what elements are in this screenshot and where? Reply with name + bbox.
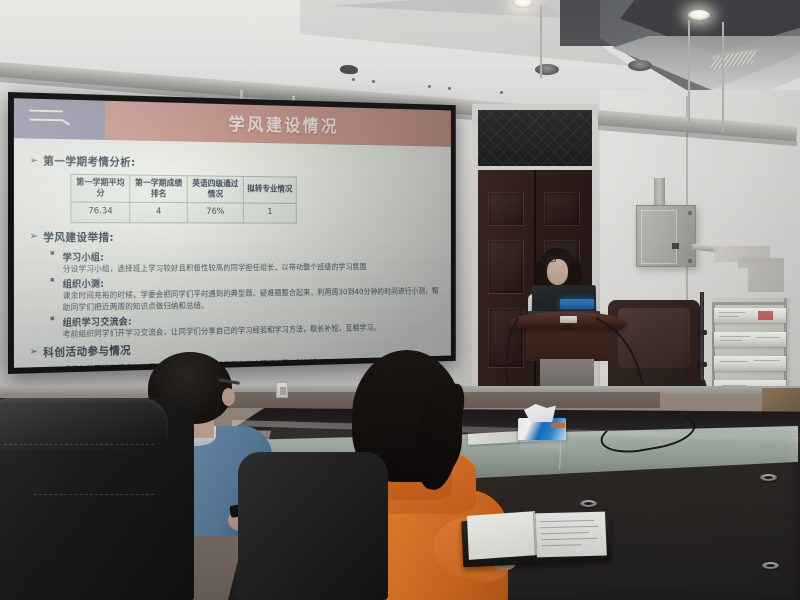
chair-stitching [4,444,154,445]
tripod-stand [700,292,704,394]
downlight-icon [535,64,559,75]
slide-section-heading-2: ➢ 学风建设举措: [30,229,440,245]
pencil-lines-icon [30,110,63,113]
cable-grommet [580,500,597,507]
arrow-bullet-icon: ➢ [30,231,39,242]
downlight-icon [688,10,710,20]
power-cable [592,316,672,392]
podium-nameplate [560,316,577,323]
projection-screen-surface: 学风建设情况 ➢ 第一学期考情分析: 第一学期平均分 第一学期成绩排名 英语四级… [14,98,451,368]
rail-screw [428,85,431,88]
rail-screw [448,87,451,90]
hanger-wire [540,6,542,78]
notebook-page-right [535,512,607,558]
table-cell-transfer: 1 [243,203,296,222]
slide-badge [14,98,105,140]
newspaper-text-line [756,337,780,338]
presenter-face [547,259,568,285]
arrow-bullet-icon: ➢ [30,155,39,166]
cable-grommet [760,474,777,481]
list-item: 学习小组: 分设学习小组，选择班上学习较好且积极性较高的同学担任组长，以带动整个… [49,248,439,275]
newspaper-text-line [720,336,750,337]
hanger-wire [722,22,724,132]
conduit-pipe [654,178,665,208]
list-item: 组织小测: 课余时间充裕的时候，学委会把同学们平时遇到的典型题、疑难题整合起来，… [49,273,439,313]
cabinet-screw [688,211,692,215]
cabinet-screw [688,259,692,263]
chair-stitching [34,494,154,495]
slide-title: 学风建设情况 [228,111,339,138]
rail-screw [500,91,503,94]
table-header-cell: 拟转专业情况 [243,176,296,203]
slide-section-heading-1: ➢ 第一学期考情分析: [30,152,440,173]
section-2-label: 学风建设举措: [43,229,114,245]
table-cell-rank: 4 [130,203,187,223]
conference-room-scene: 学风建设情况 ➢ 第一学期考情分析: 第一学期平均分 第一学期成绩排名 英语四级… [0,0,800,600]
hanger-wire [688,20,690,126]
arrow-bullet-icon: ➢ [30,347,39,358]
glasses-icon [548,257,556,262]
transom-mesh [478,110,592,166]
section-1-label: 第一学期考情分析: [43,153,135,170]
cabinet-lock-icon [672,243,679,249]
newspaper-text-line [720,340,742,341]
projection-screen: 学风建设情况 ➢ 第一学期考情分析: 第一学期平均分 第一学期成绩排名 英语四级… [8,92,456,374]
door-panel [488,240,524,294]
outlet-slot [280,387,286,395]
office-chair-right[interactable] [238,452,388,600]
table-header-cell: 英语四级通过情况 [187,176,243,204]
newspaper-text-line [719,312,745,313]
cable-grommet [762,562,779,569]
newspaper-text-line [720,361,748,362]
door-panel [544,192,580,226]
newspaper-text-line [719,316,739,317]
cabinet-door [641,210,677,264]
pencil-tip-icon [61,119,70,126]
tissue-box [518,404,566,440]
door-panel [488,192,524,226]
open-notebook [465,509,607,567]
table-cell-average: 76.34 [71,202,130,222]
slide-title-band: 学风建设情况 [105,101,451,147]
measure-title: 学习小组: [63,248,440,263]
rail-screw [372,80,375,83]
table-cell-cet4: 76% [187,203,243,223]
rack-frame-bar [714,302,786,305]
tissue-box-stripe [551,423,565,428]
slide-body: ➢ 第一学期考情分析: 第一学期平均分 第一学期成绩排名 英语四级通过情况 拟转… [14,138,451,368]
office-chair-left[interactable] [0,398,194,600]
rack-shelf [714,332,786,347]
table-header-cell: 第一学期平均分 [71,174,130,202]
podium-control-button[interactable] [564,325,573,329]
grades-table: 第一学期平均分 第一学期成绩排名 英语四级通过情况 拟转专业情况 76.34 4… [70,174,296,223]
wall-outlet[interactable] [276,382,288,398]
electrical-cabinet [636,205,696,267]
rail-screw [352,78,355,81]
table-header-row: 第一学期平均分 第一学期成绩排名 英语四级通过情况 拟转专业情况 [71,174,296,203]
chair-armrest [0,398,168,450]
measure-text: 分设学习小组，选择班上学习较好且积极性较高的同学担任组长，以带动整个班级的学习氛… [63,261,440,275]
newspaper-text-line [754,360,780,361]
downlight-icon [628,60,652,71]
attendee-blue-ear [222,388,235,406]
notebook-page-left [467,511,537,560]
table-header-cell: 第一学期成绩排名 [130,175,187,203]
rack-shelf [714,308,786,323]
presentation-slide: 学风建设情况 ➢ 第一学期考情分析: 第一学期平均分 第一学期成绩排名 英语四级… [14,98,451,368]
tissue-reflection [520,440,566,453]
rack-shelf [714,356,786,371]
transom-window [478,110,592,166]
laptop-screen [560,299,594,309]
measures-list: 学习小组: 分设学习小组，选择班上学习较好且积极性较高的同学担任组长，以带动整个… [49,248,439,341]
table-row: 76.34 4 76% 1 [71,202,296,223]
newspaper-color-block [758,311,773,320]
